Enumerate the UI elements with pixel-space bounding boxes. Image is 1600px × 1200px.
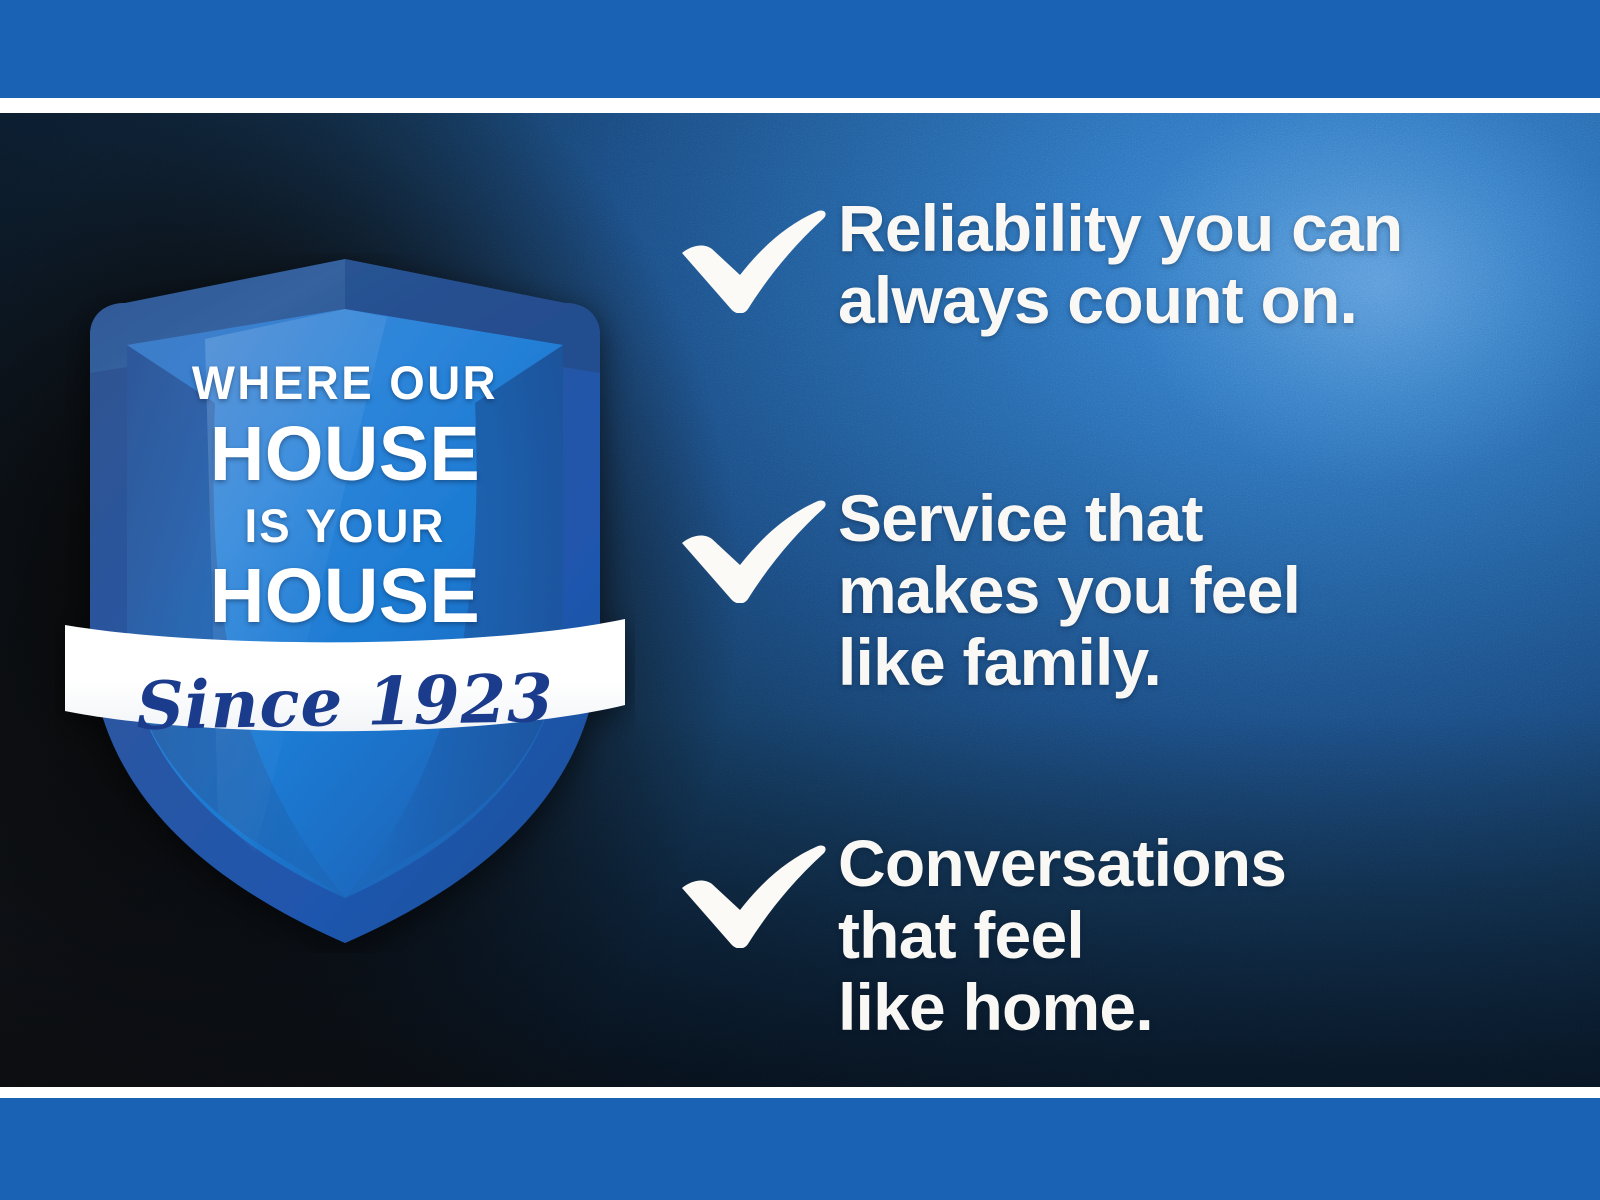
bottom-brand-bar: [0, 1098, 1600, 1200]
badge-line-4: HOUSE: [61, 558, 629, 635]
badge-line-1: WHERE OUR: [64, 359, 627, 406]
badge-line-3: IS YOUR: [64, 502, 627, 549]
badge-ribbon-text: Since 1923: [54, 663, 635, 740]
badge-line-2: HOUSE: [61, 416, 629, 493]
benefits-list: Reliability you can always count on. Ser…: [670, 193, 1550, 1044]
check-icon: [678, 209, 828, 313]
bottom-divider: [0, 1087, 1600, 1098]
shield-badge: WHERE OUR HOUSE IS YOUR HOUSE Since 1923: [55, 253, 635, 953]
check-icon: [678, 499, 828, 603]
top-divider: [0, 98, 1600, 113]
hero-stage: WHERE OUR HOUSE IS YOUR HOUSE Since 1923…: [0, 113, 1600, 1087]
promo-graphic: WHERE OUR HOUSE IS YOUR HOUSE Since 1923…: [0, 0, 1600, 1200]
benefit-item: Service that makes you feel like family.: [670, 483, 1550, 699]
benefit-item: Conversations that feel like home.: [670, 828, 1550, 1044]
benefit-item: Reliability you can always count on.: [670, 193, 1550, 337]
top-brand-bar: [0, 0, 1600, 98]
check-icon: [678, 844, 828, 948]
